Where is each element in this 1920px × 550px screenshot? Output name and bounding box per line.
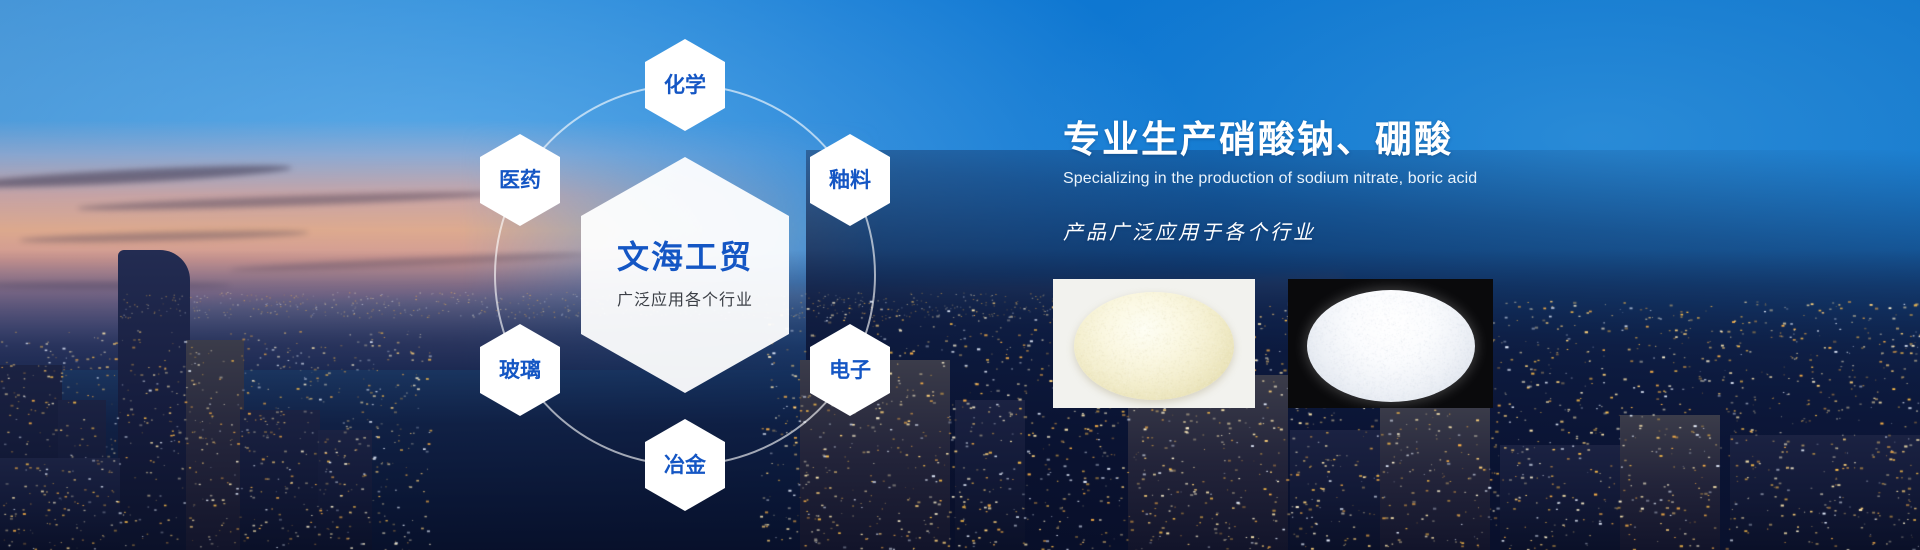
powder-pile-white <box>1307 290 1475 402</box>
powder-grain-texture <box>1307 290 1475 402</box>
promotional-banner: 化学 釉料 电子 冶金 玻璃 医药 文海工贸 广泛应用各个行业 专业生产硝酸钠、… <box>0 0 1920 550</box>
building-silhouette <box>0 458 120 550</box>
hex-node-label: 电子 <box>829 360 871 381</box>
product-photo-boric-acid <box>1288 279 1493 408</box>
hex-node-label: 釉料 <box>829 170 871 191</box>
building-silhouette <box>1620 415 1720 550</box>
building-silhouette <box>240 410 320 550</box>
page-title: 专业生产硝酸钠、硼酸 <box>1063 120 1763 161</box>
building-silhouette <box>318 430 372 550</box>
building-silhouette <box>186 340 244 550</box>
building-silhouette <box>1290 430 1380 550</box>
hex-node-label: 化学 <box>664 75 706 96</box>
product-photo-sodium-nitrate <box>1053 279 1255 408</box>
hex-node-label: 医药 <box>499 170 541 191</box>
building-silhouette <box>1730 435 1920 550</box>
building-silhouette <box>1500 445 1620 550</box>
powder-pile-cream <box>1074 292 1234 400</box>
page-subtitle: Specializing in the production of sodium… <box>1063 170 1763 188</box>
hex-node-label: 玻璃 <box>499 360 541 381</box>
industry-hexagon-diagram: 化学 釉料 电子 冶金 玻璃 医药 文海工贸 广泛应用各个行业 <box>435 30 935 520</box>
brand-tagline: 广泛应用各个行业 <box>617 286 753 310</box>
building-silhouette <box>118 250 190 550</box>
brand-name: 文海工贸 <box>617 240 753 275</box>
building-silhouette <box>955 400 1025 550</box>
page-tagline: 产品广泛应用于各个行业 <box>1063 216 1763 245</box>
building-silhouette <box>1380 405 1490 550</box>
headline-block: 专业生产硝酸钠、硼酸 Specializing in the productio… <box>1063 120 1763 245</box>
hex-node-label: 冶金 <box>664 455 706 476</box>
powder-grain-texture <box>1074 292 1234 400</box>
